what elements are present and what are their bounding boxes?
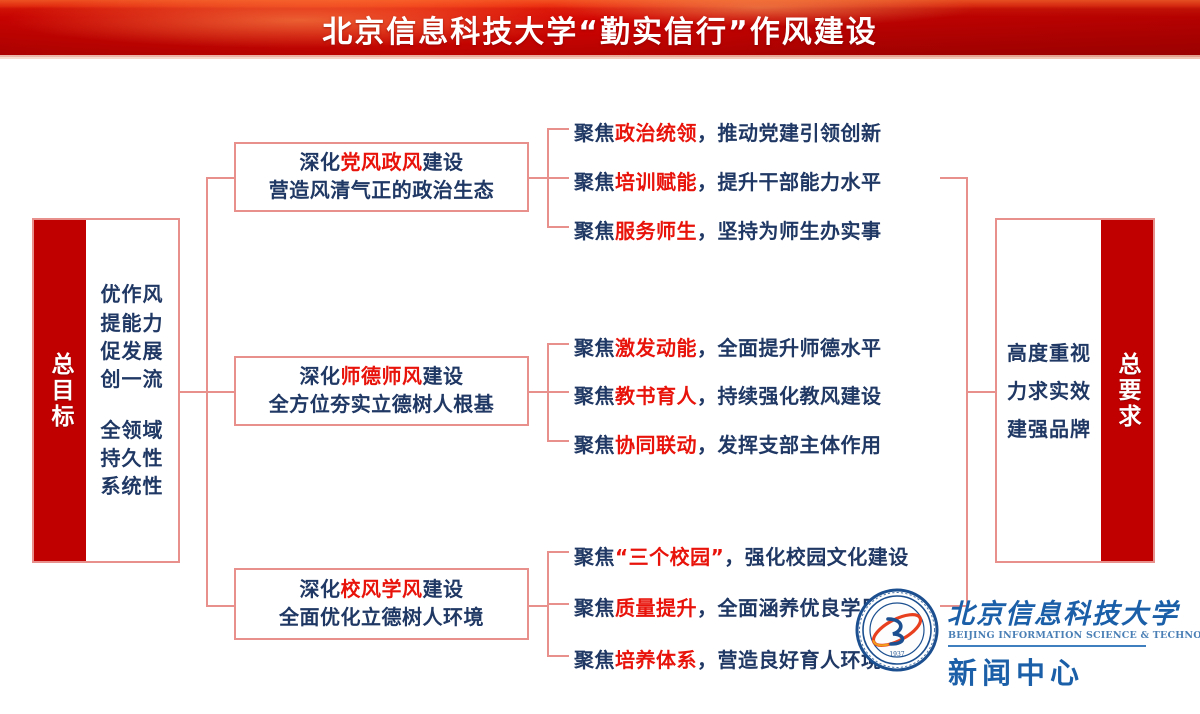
overall-goal-items: 优作风 提能力 促发展 创一流 全领域 持久性 系统性	[86, 220, 178, 561]
connector-bracket-to-requirement	[966, 391, 997, 393]
pillar-3-line-1-keyword: 校风学风	[341, 577, 423, 601]
slide-canvas: 北京信息科技大学“勤实信行”作风建设 总目标 优作风 提能力 促发展 创一流	[0, 0, 1200, 714]
requirement-item-1: 高度重视	[1007, 343, 1091, 363]
page-title: 北京信息科技大学“勤实信行”作风建设	[0, 0, 1200, 57]
action-3-3: 聚焦培养体系，营造良好育人环境	[574, 644, 882, 673]
pillar-3-line-1-suffix: 建设	[423, 577, 464, 601]
action-1-3-prefix: 聚焦	[574, 219, 615, 243]
connector-pillar-3-to-bracket	[529, 605, 549, 607]
overall-goal-strip: 总目标	[34, 220, 86, 561]
pillar-box-2[interactable]: 深化师德师风建设 全方位夯实立德树人根基	[234, 356, 529, 426]
action-1-1-prefix: 聚焦	[574, 121, 615, 145]
action-1-1-suffix: ，推动党建引领创新	[697, 121, 882, 145]
action-3-1-keyword: “三个校园”	[615, 545, 724, 569]
action-3-3-prefix: 聚焦	[574, 648, 615, 672]
action-2-3-prefix: 聚焦	[574, 433, 615, 457]
bracket-3-stub-1	[547, 551, 569, 553]
logo-unit-name: 新闻中心	[948, 650, 1084, 692]
pillar-2-line-2: 全方位夯实立德树人根基	[269, 391, 495, 419]
connector-trunk-to-pillar-1	[206, 177, 236, 179]
action-2-1: 聚焦激发动能，全面提升师德水平	[574, 332, 882, 361]
overall-requirement-strip: 总要求	[1101, 220, 1153, 561]
action-1-3-suffix: ，坚持为师生办实事	[697, 219, 882, 243]
goal-item-5: 全领域	[101, 416, 164, 444]
pillar-2-line-1-prefix: 深化	[300, 364, 341, 388]
action-1-2-keyword: 培训赋能	[615, 170, 697, 194]
action-1-2-prefix: 聚焦	[574, 170, 615, 194]
pillar-3-line-1-prefix: 深化	[300, 577, 341, 601]
goal-item-4: 创一流	[101, 365, 164, 393]
requirement-item-2: 力求实效	[1007, 381, 1091, 401]
pillar-box-3[interactable]: 深化校风学风建设 全面优化立德树人环境	[234, 568, 529, 640]
connector-trunk-to-pillar-3	[206, 605, 236, 607]
svg-text:1937: 1937	[889, 651, 904, 658]
connector-pillar-2-to-bracket	[529, 391, 549, 393]
action-2-3: 聚焦协同联动，发挥支部主体作用	[574, 429, 882, 458]
overall-requirement-items: 高度重视 力求实效 建强品牌	[997, 220, 1101, 561]
bracket-1-stub-2	[547, 177, 569, 179]
action-1-3-keyword: 服务师生	[615, 219, 697, 243]
goal-item-7: 系统性	[101, 472, 164, 500]
bracket-2-stub-1	[547, 343, 569, 345]
connector-pillar-1-to-bracket	[529, 177, 549, 179]
bracket-1-stub-1	[547, 128, 569, 130]
overall-goal-box: 总目标 优作风 提能力 促发展 创一流 全领域 持久性 系统性	[32, 218, 180, 563]
bracket-3-stub-3	[547, 655, 569, 657]
action-1-1-keyword: 政治统领	[615, 121, 697, 145]
requirement-item-3: 建强品牌	[1007, 419, 1091, 439]
overall-requirement-box: 高度重视 力求实效 建强品牌 总要求	[995, 218, 1155, 563]
goal-item-6: 持久性	[101, 444, 164, 472]
action-2-1-suffix: ，全面提升师德水平	[697, 336, 882, 360]
action-2-2-prefix: 聚焦	[574, 384, 615, 408]
pillar-3-line-2: 全面优化立德树人环境	[279, 604, 484, 632]
connector-trunk-to-pillar-2	[206, 391, 236, 393]
action-3-1: 聚焦“三个校园”，强化校园文化建设	[574, 541, 909, 570]
action-2-3-suffix: ，发挥支部主体作用	[697, 433, 882, 457]
action-3-2: 聚焦质量提升，全面涵养优良学风	[574, 592, 882, 621]
pillar-box-1[interactable]: 深化党风政风建设 营造风清气正的政治生态	[234, 142, 529, 212]
action-3-2-keyword: 质量提升	[615, 596, 697, 620]
pillar-1-line-1-prefix: 深化	[300, 150, 341, 174]
bracket-1-stub-3	[547, 226, 569, 228]
overall-requirement-label: 总要求	[1113, 352, 1141, 430]
action-3-3-keyword: 培养体系	[615, 648, 697, 672]
right-bracket-top-arm	[940, 177, 968, 179]
action-2-3-keyword: 协同联动	[615, 433, 697, 457]
university-logo: 1937 北京信息科技大学 BEIJING INFORMATION SCIENC…	[855, 586, 1185, 696]
action-2-2: 聚焦教书育人，持续强化教风建设	[574, 380, 882, 409]
action-3-2-prefix: 聚焦	[574, 596, 615, 620]
goal-item-2: 提能力	[101, 309, 164, 337]
logo-university-name-en: BEIJING INFORMATION SCIENCE & TECHNOLOGY…	[948, 630, 1200, 641]
pillar-1-line-1-suffix: 建设	[423, 150, 464, 174]
action-2-1-keyword: 激发动能	[615, 336, 697, 360]
bracket-2-stub-3	[547, 440, 569, 442]
action-1-3: 聚焦服务师生，坚持为师生办实事	[574, 215, 882, 244]
action-1-2: 聚焦培训赋能，提升干部能力水平	[574, 166, 882, 195]
pillar-1-line-2: 营造风清气正的政治生态	[269, 177, 495, 205]
goal-item-3: 促发展	[101, 337, 164, 365]
connector-goal-to-trunk	[180, 391, 208, 393]
pillar-2-line-1-keyword: 师德师风	[341, 364, 423, 388]
pillar-2-line-1-suffix: 建设	[423, 364, 464, 388]
action-1-2-suffix: ，提升干部能力水平	[697, 170, 882, 194]
action-2-2-keyword: 教书育人	[615, 384, 697, 408]
action-2-1-prefix: 聚焦	[574, 336, 615, 360]
pillar-3-line-1: 深化校风学风建设	[300, 576, 464, 604]
logo-divider	[948, 645, 1146, 647]
university-emblem-icon: 1937	[855, 588, 939, 672]
pillar-1-line-1-keyword: 党风政风	[341, 150, 423, 174]
pillar-1-line-1: 深化党风政风建设	[300, 149, 464, 177]
pillar-2-line-1: 深化师德师风建设	[300, 363, 464, 391]
action-3-3-suffix: ，营造良好育人环境	[697, 648, 882, 672]
action-3-1-suffix: ，强化校园文化建设	[724, 545, 909, 569]
logo-university-name-cn: 北京信息科技大学	[947, 592, 1179, 631]
action-3-2-suffix: ，全面涵养优良学风	[697, 596, 882, 620]
bracket-3-stub-2	[547, 603, 569, 605]
action-1-1: 聚焦政治统领，推动党建引领创新	[574, 117, 882, 146]
action-2-2-suffix: ，持续强化教风建设	[697, 384, 882, 408]
goal-item-1: 优作风	[101, 280, 164, 308]
action-3-1-prefix: 聚焦	[574, 545, 615, 569]
bracket-2-stub-2	[547, 391, 569, 393]
overall-goal-label: 总目标	[46, 352, 74, 430]
